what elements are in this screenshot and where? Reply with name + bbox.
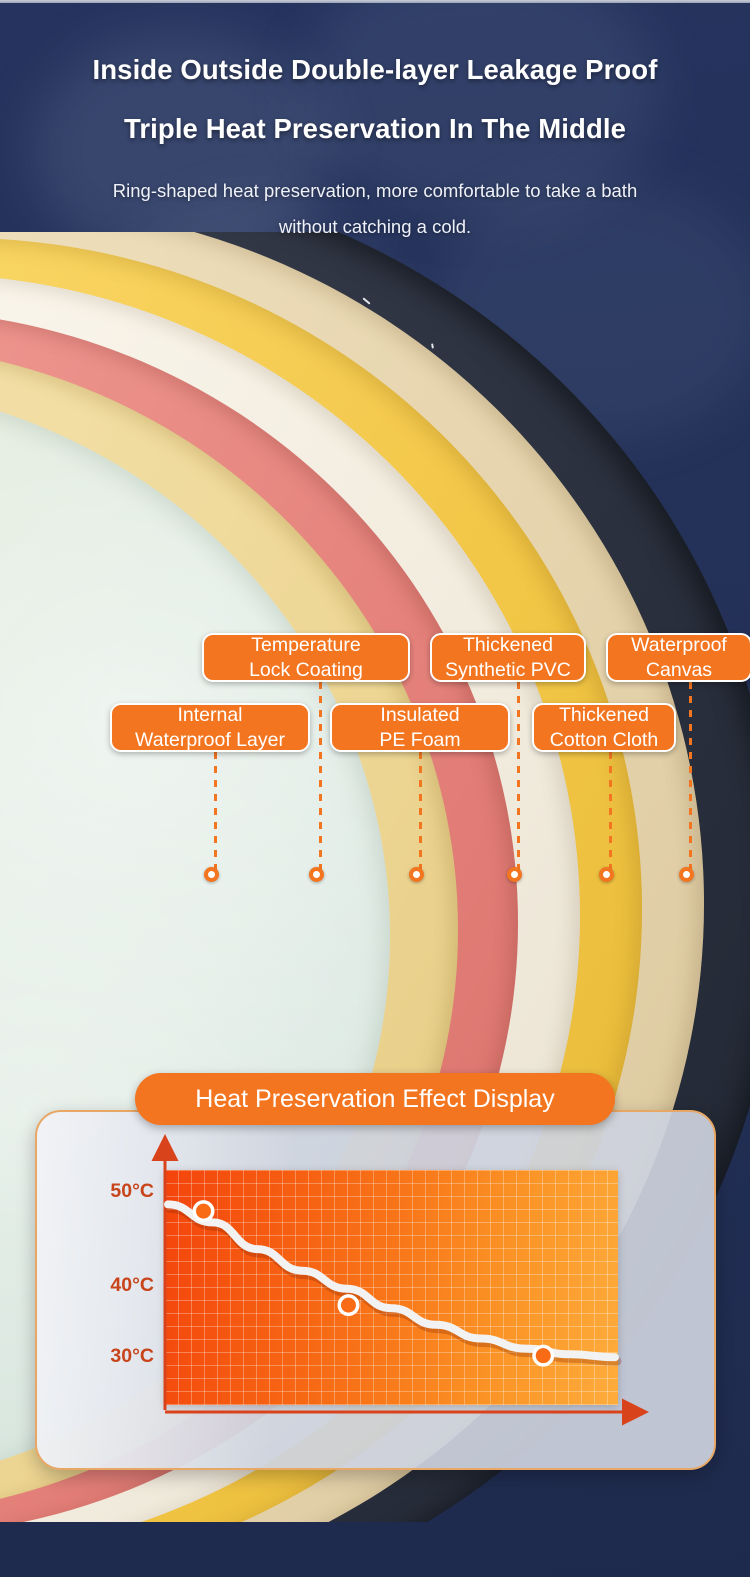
callout-dot-6: [679, 867, 694, 882]
callout-dot-2: [309, 867, 324, 882]
callout-badge-1[interactable]: Internal Waterproof Layer: [110, 703, 310, 752]
callout-dot-4: [507, 867, 522, 882]
callout-leader-line-3: [419, 752, 422, 878]
data-point-1[interactable]: [196, 1204, 211, 1219]
y-tick-label-40: 40°C: [66, 1274, 154, 1297]
curve-shadow: [170, 1208, 617, 1361]
callout-leader-line-2: [319, 682, 322, 878]
star-speck: [362, 297, 370, 304]
subheadline: Ring-shaped heat preservation, more comf…: [0, 173, 750, 245]
callout-badge-label: Thickened Synthetic PVC: [445, 633, 571, 683]
callout-dot-3: [409, 867, 424, 882]
top-rule: [0, 0, 750, 3]
callout-badge-5[interactable]: Thickened Cotton Cloth: [532, 703, 676, 752]
y-tick-label-50: 50°C: [66, 1180, 154, 1203]
callout-badge-label: Waterproof Canvas: [631, 633, 727, 683]
subheadline-line-2: without catching a cold.: [0, 209, 750, 245]
callout-dot-5: [599, 867, 614, 882]
callout-badge-3[interactable]: Insulated PE Foam: [330, 703, 510, 752]
callout-leader-line-1: [214, 752, 217, 878]
callout-leader-line-6: [689, 682, 692, 878]
headline-line-1: Inside Outside Double-layer Leakage Proo…: [0, 54, 750, 86]
callout-badge-2[interactable]: Temperature Lock Coating: [202, 633, 410, 682]
temperature-decay-curve: [165, 1170, 618, 1405]
callout-badge-4[interactable]: Thickened Synthetic PVC: [430, 633, 586, 682]
callout-badge-label: Thickened Cotton Cloth: [550, 703, 658, 753]
callout-dot-1: [204, 867, 219, 882]
callout-badge-label: Internal Waterproof Layer: [135, 703, 285, 753]
callout-leader-line-4: [517, 682, 520, 878]
callout-leader-line-5: [609, 752, 612, 878]
data-point-2[interactable]: [341, 1298, 356, 1313]
headline-line-2: Triple Heat Preservation In The Middle: [0, 113, 750, 145]
callout-badge-label: Insulated PE Foam: [379, 703, 460, 753]
subheadline-line-1: Ring-shaped heat preservation, more comf…: [0, 173, 750, 209]
callout-badge-6[interactable]: Waterproof Canvas: [606, 633, 750, 682]
header: Inside Outside Double-layer Leakage Proo…: [0, 0, 750, 245]
y-tick-label-30: 30°C: [66, 1345, 154, 1368]
callout-badge-label: Temperature Lock Coating: [249, 633, 363, 683]
star-speck: [431, 343, 434, 348]
curve-path: [168, 1204, 615, 1357]
infographic-page: Inside Outside Double-layer Leakage Proo…: [0, 0, 750, 1577]
chart-banner: Heat Preservation Effect Display: [135, 1073, 615, 1125]
data-point-3[interactable]: [536, 1348, 551, 1363]
